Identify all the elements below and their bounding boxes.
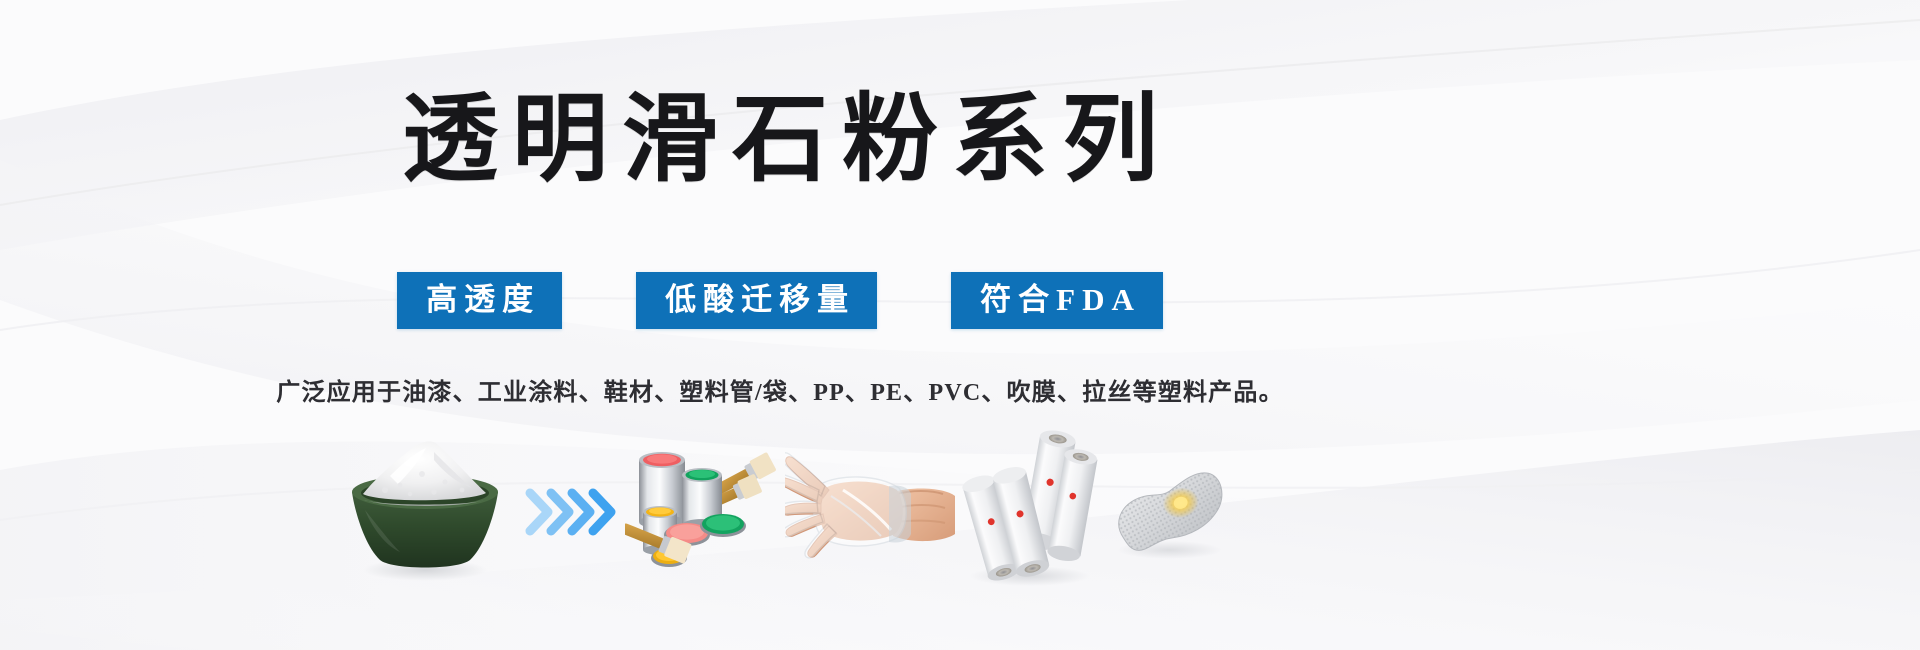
paint-cans-image: [625, 430, 785, 600]
process-arrows: [520, 430, 625, 600]
application-image-strip: [330, 430, 1230, 600]
page-title: 透明滑石粉系列: [0, 84, 1560, 196]
plastic-glove-hand-image: [785, 430, 955, 600]
chevron-right-icon-2: [551, 493, 569, 531]
badge-high-transparency[interactable]: 高透度: [397, 272, 562, 329]
badge-fda-compliant[interactable]: 符合FDA: [951, 272, 1163, 329]
feature-badge-row: 高透度 低酸迁移量 符合FDA: [0, 272, 1560, 329]
talc-powder-bowl-image: [330, 430, 520, 600]
chevron-right-icon-4: [593, 493, 611, 531]
product-banner: 透明滑石粉系列 高透度 低酸迁移量 符合FDA 广泛应用于油漆、工业涂料、鞋材、…: [0, 0, 1920, 650]
chevron-right-icon-3: [572, 493, 590, 531]
plastic-film-rolls-image: [955, 430, 1105, 600]
shoe-sole-image: [1105, 430, 1230, 600]
chevron-right-icon-1: [530, 493, 548, 531]
page-subtitle: 广泛应用于油漆、工业涂料、鞋材、塑料管/袋、PP、PE、PVC、吹膜、拉丝等塑料…: [0, 376, 1560, 410]
badge-low-acid-migration[interactable]: 低酸迁移量: [636, 272, 877, 329]
